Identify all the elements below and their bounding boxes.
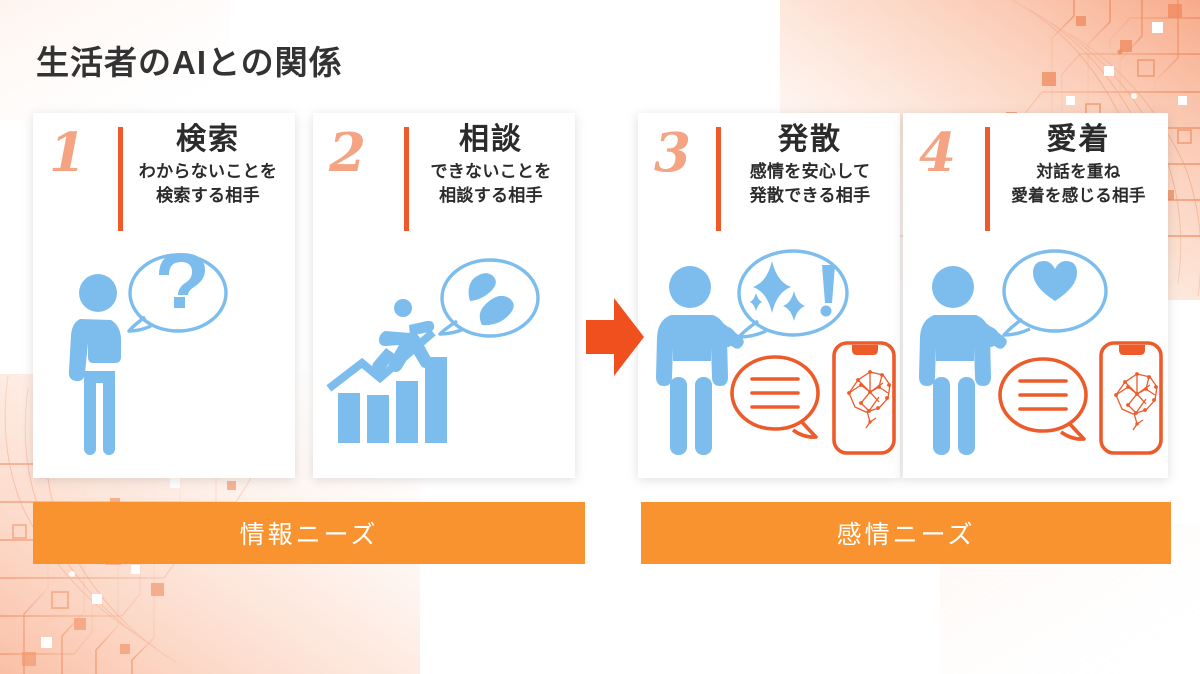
card-3-venting[interactable]: 3 発散 感情を安心して 発散できる相手 <box>638 113 900 478</box>
card-1-subtitle-line1: わからないことを <box>125 161 291 184</box>
chat-bubble-icon <box>732 357 818 437</box>
card-4-divider <box>985 127 990 231</box>
heart-icon <box>1033 261 1077 301</box>
card-2-subtitle-line1: できないことを <box>411 161 571 184</box>
banner-emotional-needs: 感情ニーズ <box>641 502 1171 564</box>
card-1-illustration <box>33 235 295 478</box>
banner-2-label: 感情ニーズ <box>837 515 976 551</box>
question-mark-icon <box>159 253 205 308</box>
person-icon <box>919 266 1007 455</box>
smartphone-icon <box>1101 343 1161 453</box>
card-1-number: 1 <box>49 127 86 180</box>
card-3-subtitle-line1: 感情を安心して <box>724 161 896 184</box>
card-1-divider <box>118 127 123 231</box>
card-4-attachment[interactable]: 4 愛着 対話を重ね 愛着を感じる相手 <box>903 113 1168 478</box>
card-4-illustration <box>903 235 1168 478</box>
ai-brain-network-icon <box>1116 374 1157 430</box>
ai-brain-nodes <box>847 370 891 424</box>
page-title: 生活者のAIとの関係 <box>36 36 343 84</box>
sparkle-icon <box>750 261 805 321</box>
card-3-text: 発散 感情を安心して 発散できる相手 <box>724 121 896 208</box>
card-4-title: 愛着 <box>993 121 1164 159</box>
right-arrow-icon <box>586 298 644 376</box>
card-2-subtitle-line2: 相談する相手 <box>411 185 571 208</box>
quote-marks-icon <box>469 273 514 325</box>
phone-notch-icon <box>1119 345 1145 355</box>
ai-brain-network-icon <box>849 372 890 428</box>
card-4-subtitle-line2: 愛着を感じる相手 <box>993 185 1164 207</box>
card-1-title: 検索 <box>125 121 291 159</box>
banner-information-needs: 情報ニーズ <box>33 502 585 564</box>
card-1-header: 1 検索 わからないことを 検索する相手 <box>33 113 295 235</box>
card-3-title: 発散 <box>724 121 896 159</box>
card-2-consult[interactable]: 2 相談 できないことを 相談する相手 <box>313 113 575 478</box>
card-4-subtitle-line1: 対話を重ね <box>993 161 1164 183</box>
card-2-illustration <box>313 235 575 478</box>
card-3-illustration <box>638 235 900 478</box>
card-1-search[interactable]: 1 検索 わからないことを 検索する相手 <box>33 113 295 478</box>
card-4-text: 愛着 対話を重ね 愛着を感じる相手 <box>993 121 1164 207</box>
card-1-text: 検索 わからないことを 検索する相手 <box>125 121 291 208</box>
card-3-number: 3 <box>654 127 691 180</box>
card-2-header: 2 相談 できないことを 相談する相手 <box>313 113 575 235</box>
person-icon <box>656 266 744 455</box>
card-2-number: 2 <box>329 127 366 180</box>
person-thinking-icon <box>69 274 121 455</box>
question-speech-bubble-icon <box>129 255 226 331</box>
card-3-subtitle-line2: 発散できる相手 <box>724 185 896 208</box>
card-1-subtitle-line2: 検索する相手 <box>125 185 291 208</box>
phone-notch-icon <box>852 345 878 355</box>
card-2-text: 相談 できないことを 相談する相手 <box>411 121 571 208</box>
card-3-divider <box>716 127 721 231</box>
card-4-number: 4 <box>919 127 956 180</box>
card-3-header: 3 発散 感情を安心して 発散できる相手 <box>638 113 900 235</box>
exclamation-icon <box>821 265 836 317</box>
card-2-title: 相談 <box>411 121 571 159</box>
card-2-divider <box>404 127 409 231</box>
banner-1-label: 情報ニーズ <box>240 515 379 551</box>
chat-bubble-icon <box>1000 359 1086 439</box>
card-4-header: 4 愛着 対話を重ね 愛着を感じる相手 <box>903 113 1168 235</box>
ai-brain-nodes <box>1114 372 1158 426</box>
smartphone-icon <box>834 343 894 453</box>
